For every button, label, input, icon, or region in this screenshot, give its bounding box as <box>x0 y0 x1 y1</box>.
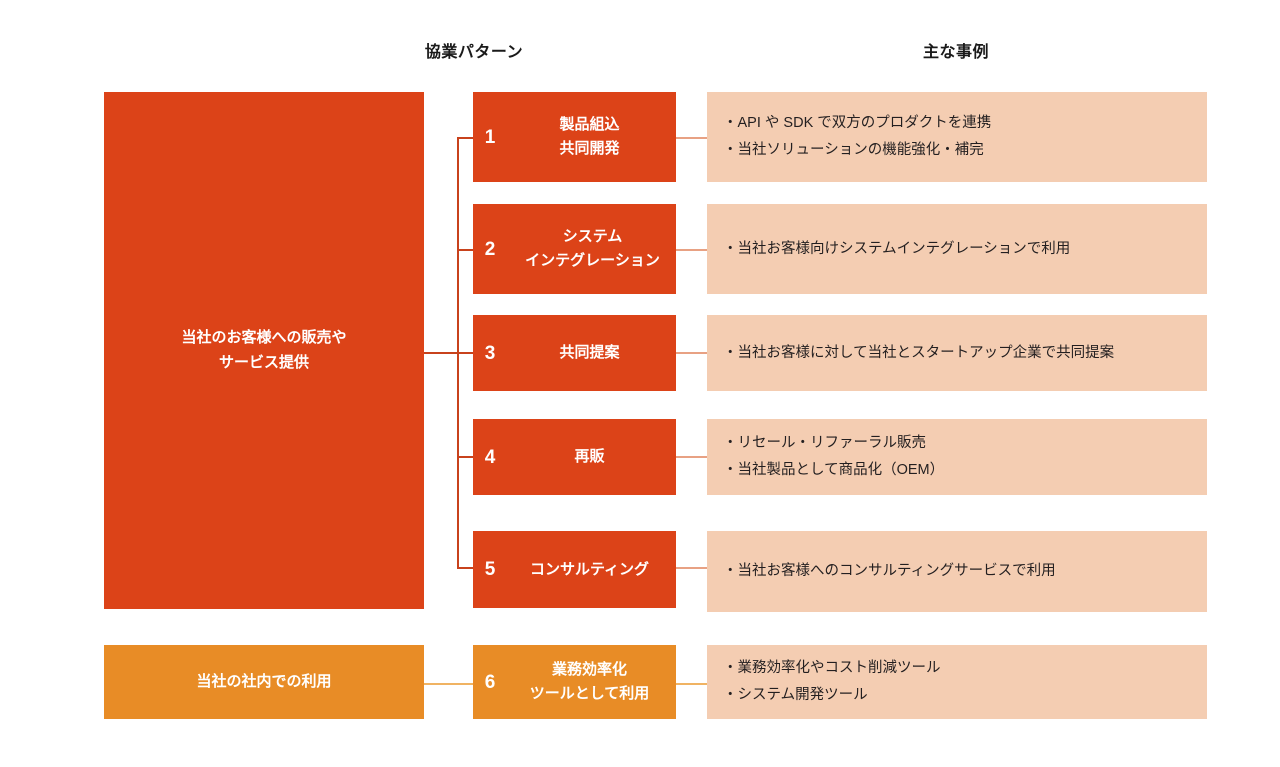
column-header-pattern: 協業パターン <box>284 38 664 62</box>
pattern-label-5: コンサルティング <box>507 558 676 582</box>
pattern-label-4: 再販 <box>507 445 676 469</box>
example-3-line1: ・当社お客様に対して当社とスタートアップ企業で共同提案 <box>723 340 1191 367</box>
example-box-4: ・リセール・リファーラル販売 ・当社製品として商品化（OEM） <box>707 419 1207 495</box>
connector-internal-use <box>424 683 474 685</box>
example-4-line2: ・当社製品として商品化（OEM） <box>723 457 1191 484</box>
example-box-1: ・API や SDK で双方のプロダクトを連携 ・当社ソリューションの機能強化・… <box>707 92 1207 182</box>
pattern-label-6-line2: ツールとして利用 <box>507 682 672 706</box>
connector-right-5 <box>676 567 708 569</box>
left-block-internal-line1: 当社の社内での利用 <box>196 670 331 695</box>
pattern-number-1: 1 <box>473 128 507 147</box>
example-6-line1: ・業務効率化やコスト削減ツール <box>723 655 1191 682</box>
pattern-box-3: 3 共同提案 <box>473 315 676 391</box>
left-block-sales-text: 当社のお客様への販売や サービス提供 <box>181 326 346 376</box>
pattern-label-2-line2: インテグレーション <box>499 249 686 273</box>
pattern-label-3: 共同提案 <box>507 341 676 365</box>
pattern-label-3-line1: 共同提案 <box>507 341 672 365</box>
example-4-line1: ・リセール・リファーラル販売 <box>723 430 1191 457</box>
left-block-internal: 当社の社内での利用 <box>104 645 424 719</box>
connector-right-6 <box>676 683 708 685</box>
pattern-label-2-line1: システム <box>499 225 686 249</box>
example-6-line2: ・システム開発ツール <box>723 682 1191 709</box>
column-header-example: 主な事例 <box>706 38 1206 62</box>
pattern-box-5: 5 コンサルティング <box>473 531 676 608</box>
connector-right-1 <box>676 137 708 139</box>
connector-right-3 <box>676 352 708 354</box>
pattern-box-6: 6 業務効率化 ツールとして利用 <box>473 645 676 719</box>
diagram-canvas: 協業パターン 主な事例 当社のお客様への販売や サービス提供 当社の社内での利用… <box>0 0 1280 767</box>
pattern-number-4: 4 <box>473 448 507 467</box>
left-block-sales: 当社のお客様への販売や サービス提供 <box>104 92 424 609</box>
example-2-line1: ・当社お客様向けシステムインテグレーションで利用 <box>723 236 1191 263</box>
pattern-label-6: 業務効率化 ツールとして利用 <box>507 658 676 706</box>
pattern-box-1: 1 製品組込 共同開発 <box>473 92 676 182</box>
left-block-sales-line1: 当社のお客様への販売や <box>181 326 346 351</box>
example-5-line1: ・当社お客様へのコンサルティングサービスで利用 <box>723 558 1191 585</box>
pattern-label-1-line2: 共同開発 <box>507 137 672 161</box>
pattern-label-1-line1: 製品組込 <box>507 113 672 137</box>
example-1-line2: ・当社ソリューションの機能強化・補完 <box>723 137 1191 164</box>
pattern-number-5: 5 <box>473 560 507 579</box>
example-1-line1: ・API や SDK で双方のプロダクトを連携 <box>723 110 1191 137</box>
pattern-label-5-line1: コンサルティング <box>507 558 672 582</box>
pattern-box-4: 4 再販 <box>473 419 676 495</box>
left-block-sales-line2: サービス提供 <box>181 351 346 376</box>
pattern-label-4-line1: 再販 <box>507 445 672 469</box>
example-box-5: ・当社お客様へのコンサルティングサービスで利用 <box>707 531 1207 612</box>
pattern-number-6: 6 <box>473 673 507 692</box>
pattern-label-6-line1: 業務効率化 <box>507 658 672 682</box>
example-box-6: ・業務効率化やコスト削減ツール ・システム開発ツール <box>707 645 1207 719</box>
example-box-3: ・当社お客様に対して当社とスタートアップ企業で共同提案 <box>707 315 1207 391</box>
example-box-2: ・当社お客様向けシステムインテグレーションで利用 <box>707 204 1207 294</box>
pattern-box-2: 2 システム インテグレーション <box>473 204 676 294</box>
connector-right-4 <box>676 456 708 458</box>
left-block-internal-text: 当社の社内での利用 <box>196 670 331 695</box>
pattern-label-2: システム インテグレーション <box>499 225 690 273</box>
pattern-number-3: 3 <box>473 344 507 363</box>
pattern-label-1: 製品組込 共同開発 <box>507 113 676 161</box>
